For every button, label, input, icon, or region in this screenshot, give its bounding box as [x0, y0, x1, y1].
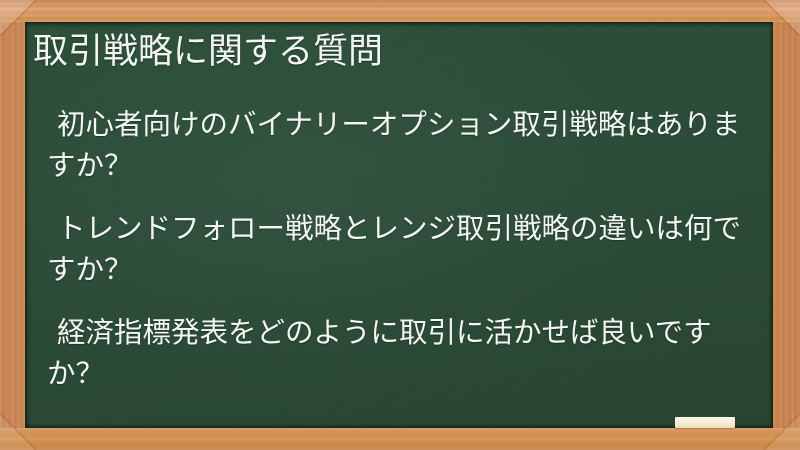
question-item: 経済指標発表をどのように取引に活かせば良いですか？ — [47, 312, 747, 394]
chalk-stick — [675, 417, 735, 428]
chalkboard-slide: 取引戦略に関する質問 初心者向けのバイナリーオプション取引戦略はありますか？ ト… — [0, 0, 800, 450]
chalkboard-content: 取引戦略に関する質問 初心者向けのバイナリーオプション取引戦略はありますか？ ト… — [25, 22, 773, 428]
question-item: トレンドフォロー戦略とレンジ取引戦略の違いは何ですか？ — [47, 208, 747, 290]
question-list: 初心者向けのバイナリーオプション取引戦略はありますか？ トレンドフォロー戦略とレ… — [47, 104, 753, 394]
wooden-frame-chalk-tray — [0, 428, 800, 450]
chalkboard-surface: 取引戦略に関する質問 初心者向けのバイナリーオプション取引戦略はありますか？ ト… — [25, 22, 773, 428]
question-item: 初心者向けのバイナリーオプション取引戦略はありますか？ — [47, 104, 747, 186]
slide-title: 取引戦略に関する質問 — [33, 30, 753, 74]
wooden-frame-top-rail — [0, 0, 800, 22]
